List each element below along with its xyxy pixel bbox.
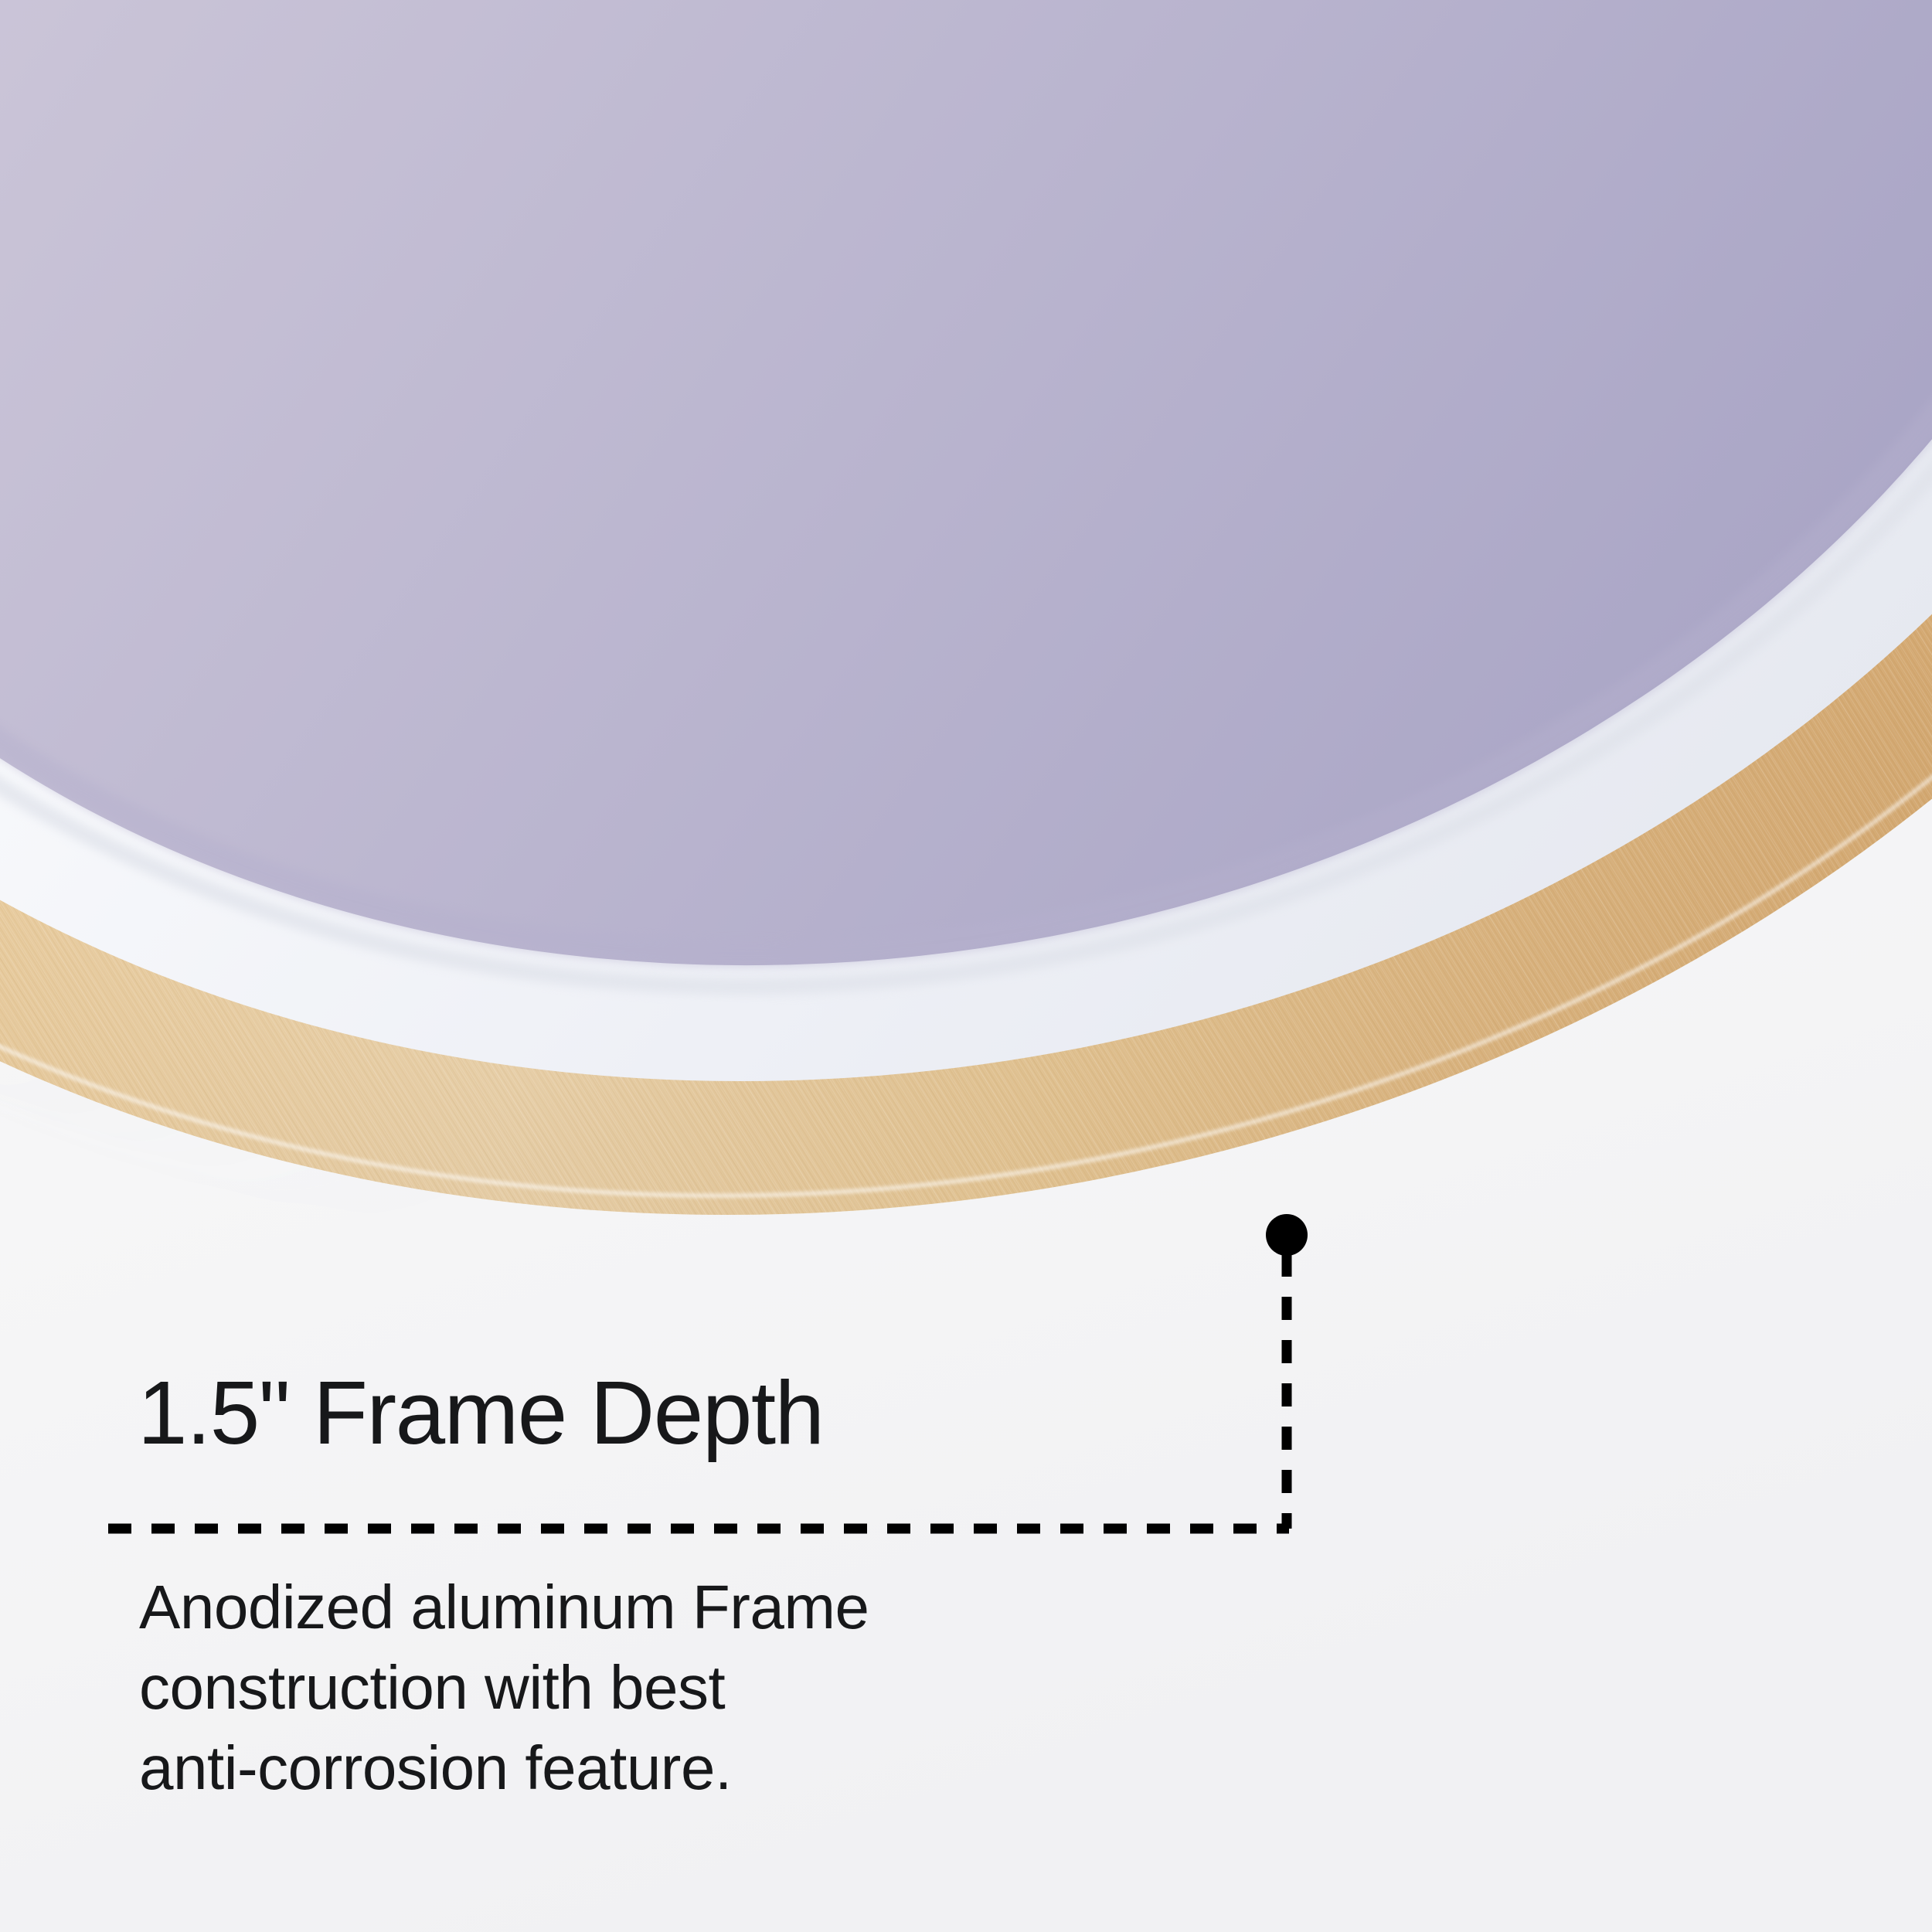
- callout-body-copy: Anodized aluminum Frame construction wit…: [139, 1567, 1105, 1808]
- body-line-2: construction with best: [139, 1648, 1105, 1728]
- callout-headline: 1.5" Frame Depth: [138, 1368, 1297, 1458]
- body-line-3: anti-corrosion feature.: [139, 1728, 1105, 1808]
- callout-text-block: 1.5" Frame Depth: [138, 1368, 1297, 1458]
- body-line-1: Anodized aluminum Frame: [139, 1567, 1105, 1648]
- product-detail-image: 1.5" Frame Depth Anodized aluminum Frame…: [0, 0, 1932, 1932]
